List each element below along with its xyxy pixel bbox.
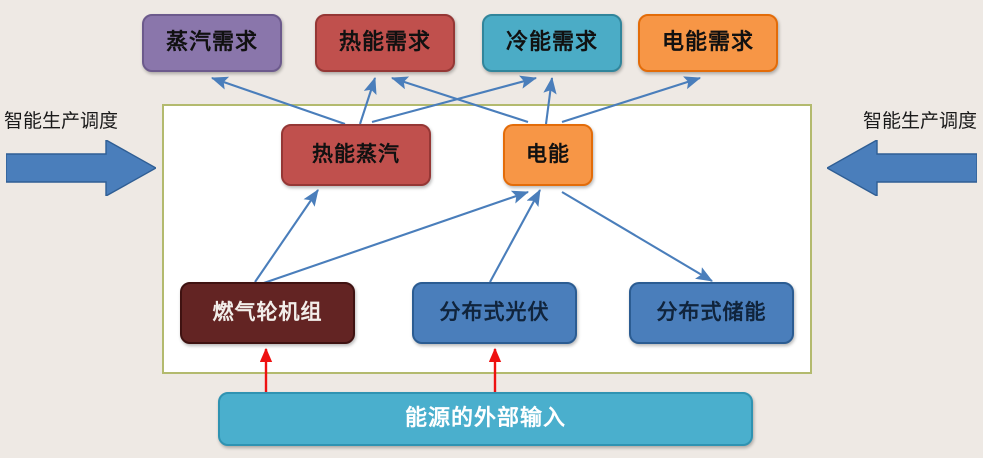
- node-electricity-label: 电能: [526, 143, 570, 166]
- node-distributed-pv-label: 分布式光伏: [440, 301, 550, 324]
- node-heat-demand[interactable]: 热能需求: [315, 14, 455, 72]
- node-steam-demand[interactable]: 蒸汽需求: [142, 14, 282, 72]
- node-heat-steam[interactable]: 热能蒸汽: [281, 124, 431, 186]
- node-heat-steam-label: 热能蒸汽: [312, 143, 400, 166]
- block-arrow-right-pointing-icon: [6, 140, 156, 196]
- node-electricity-demand[interactable]: 电能需求: [638, 14, 778, 72]
- node-distributed-storage-label: 分布式储能: [657, 301, 767, 324]
- node-cooling-demand[interactable]: 冷能需求: [482, 14, 622, 72]
- node-cooling-demand-label: 冷能需求: [506, 31, 598, 55]
- node-external-energy-input-label: 能源的外部输入: [405, 407, 566, 431]
- node-distributed-storage[interactable]: 分布式储能: [629, 282, 794, 344]
- node-external-energy-input[interactable]: 能源的外部输入: [218, 392, 753, 446]
- node-gas-turbine-unit-label: 燃气轮机组: [213, 301, 323, 324]
- diagram-canvas: 蒸汽需求 热能需求 冷能需求 电能需求 热能蒸汽 电能 燃气轮机组 分布式光伏 …: [0, 0, 983, 458]
- block-arrow-left-pointing-icon: [827, 140, 977, 196]
- node-heat-demand-label: 热能需求: [339, 31, 431, 55]
- node-electricity[interactable]: 电能: [503, 124, 593, 186]
- label-right-scheduling: 智能生产调度: [863, 106, 977, 133]
- node-gas-turbine-unit[interactable]: 燃气轮机组: [180, 282, 355, 344]
- node-electricity-demand-label: 电能需求: [662, 31, 754, 55]
- node-distributed-pv[interactable]: 分布式光伏: [412, 282, 577, 344]
- label-left-scheduling: 智能生产调度: [4, 106, 118, 133]
- node-steam-demand-label: 蒸汽需求: [166, 31, 258, 55]
